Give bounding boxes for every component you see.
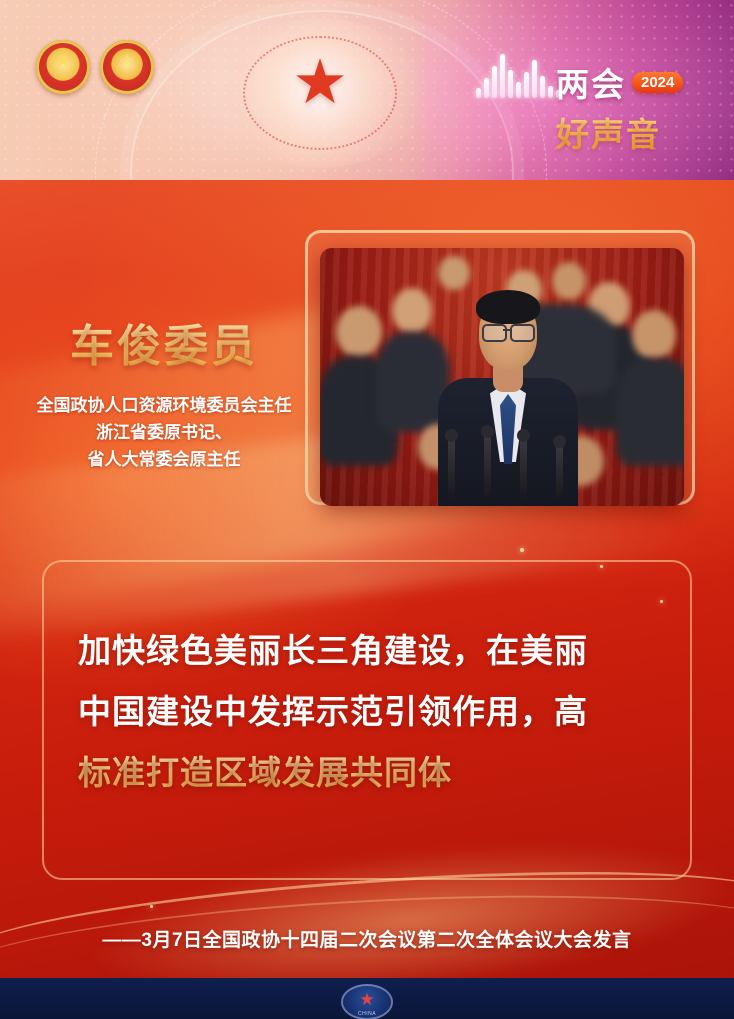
speaker-hair (476, 290, 540, 324)
media-logo-icon: CHINA (341, 984, 393, 1019)
quote-line-1: 加快绿色美丽长三角建设，在美丽 (78, 620, 658, 681)
microphone-icon (556, 444, 563, 500)
speaker-title-line-2: 浙江省委原书记、 (14, 419, 314, 446)
brand-year-badge: 2024 (632, 72, 683, 93)
background-person (336, 306, 382, 358)
source-line: ——3月7日全国政协十四届二次会议第二次全体会议大会发言 (0, 925, 734, 952)
sparkle (520, 548, 524, 552)
audio-waveform-icon (476, 52, 561, 98)
microphone-icon (484, 434, 491, 500)
speaker-name: 车俊委员 (14, 310, 314, 374)
speaker-glasses-bridge (503, 329, 510, 331)
brand-line2: 好声音 (556, 108, 706, 156)
quote-line-3: 标准打造区域发展共同体 (78, 742, 658, 803)
poster-root: ★ 两会2024 好声音 车俊委员 全国政协人口资源环境委员会主任 浙江省委原书… (0, 0, 734, 1019)
brand-line1: 两会 (556, 58, 626, 106)
header-banner: ★ 两会2024 好声音 (0, 0, 734, 196)
media-logo-subtext: CHINA (341, 1011, 393, 1017)
background-person (632, 310, 676, 360)
speaker-info: 车俊委员 全国政协人口资源环境委员会主任 浙江省委原书记、 省人大常委会原主任 (14, 310, 314, 474)
speaker-photo (320, 248, 684, 506)
red-star-glyph: ★ (282, 52, 358, 114)
speaker-title-line-3: 省人大常委会原主任 (14, 446, 314, 473)
speaker-glasses-right (510, 324, 535, 342)
quote-text: 加快绿色美丽长三角建设，在美丽 中国建设中发挥示范引领作用，高 标准打造区域发展… (78, 620, 658, 803)
speaker-titles: 全国政协人口资源环境委员会主任 浙江省委原书记、 省人大常委会原主任 (14, 392, 314, 474)
microphone-icon (448, 438, 455, 500)
background-person (616, 358, 684, 466)
speaker-glasses-left (482, 324, 507, 342)
speaker-title-line-1: 全国政协人口资源环境委员会主任 (14, 392, 314, 419)
microphone-icon (520, 438, 527, 500)
quote-line-2: 中国建设中发挥示范引领作用，高 (78, 681, 658, 742)
sparkle (150, 905, 153, 908)
national-emblem-icon (36, 40, 90, 94)
cppcc-emblem-icon (100, 40, 154, 94)
background-person (392, 288, 432, 334)
brand-title: 两会2024 好声音 (556, 58, 706, 156)
